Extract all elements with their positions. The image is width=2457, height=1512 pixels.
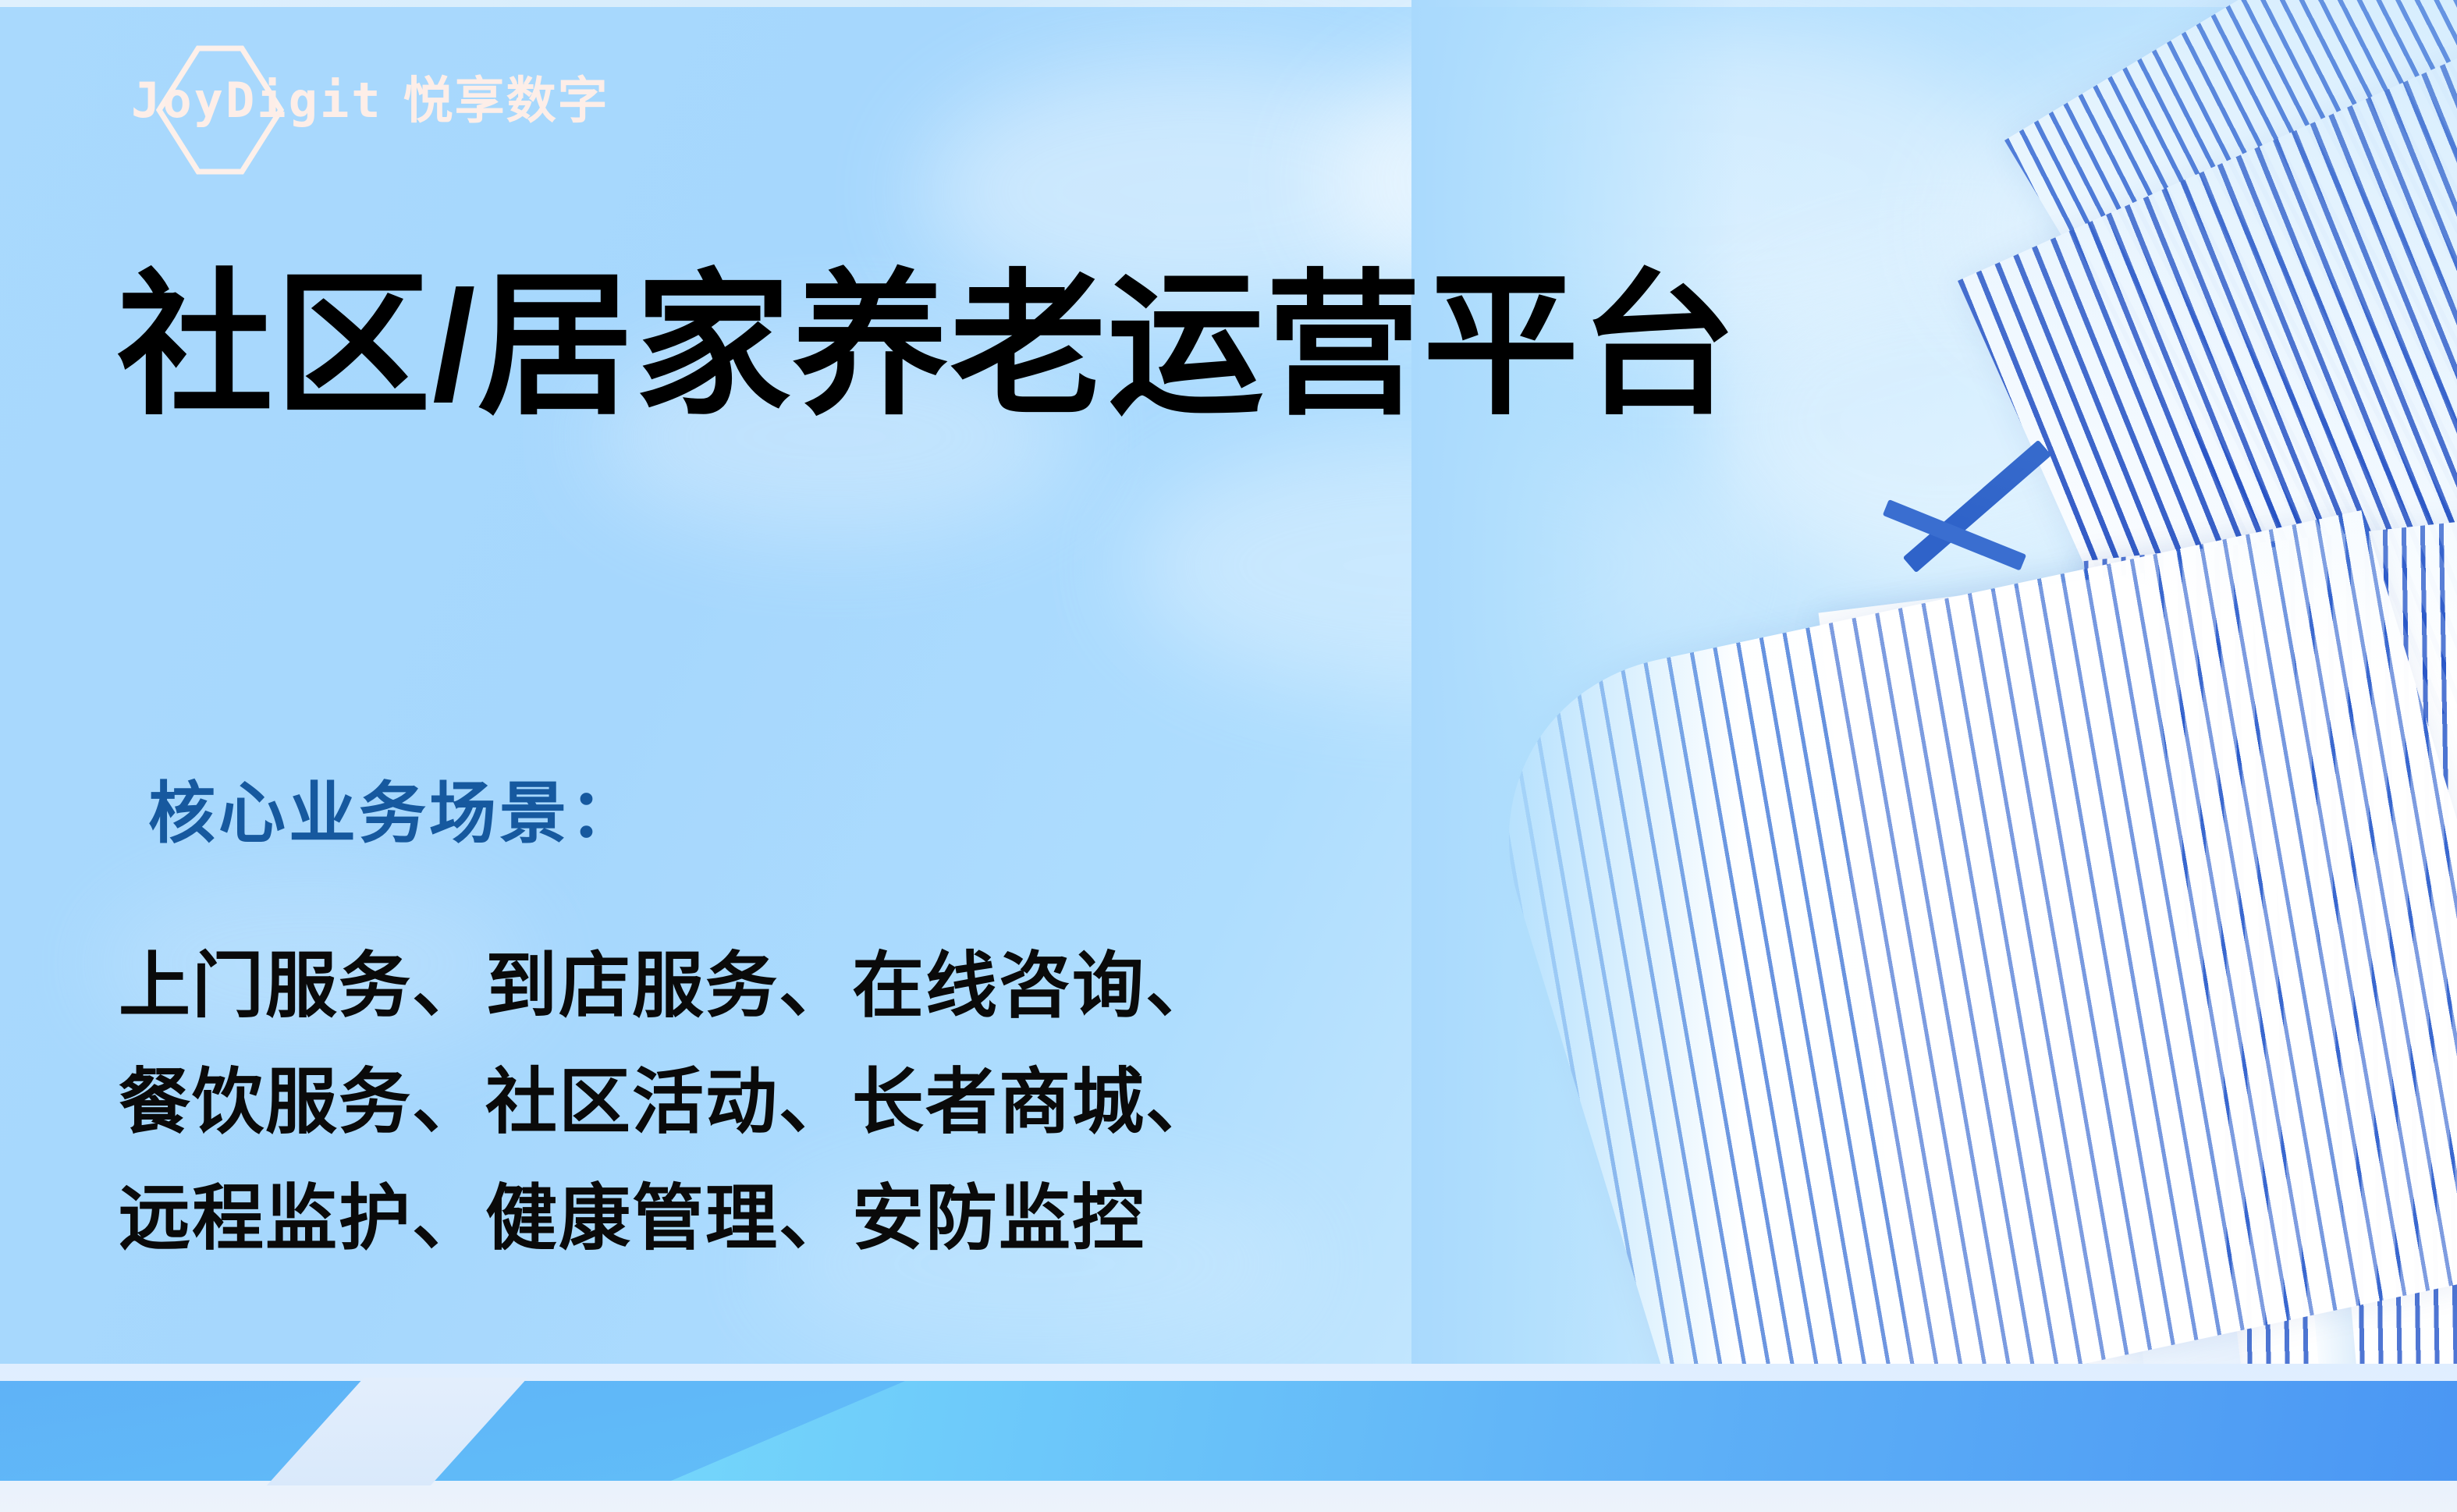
brand-logo[interactable]: JoyDigit 悦享数字 xyxy=(131,67,609,134)
skyscraper-photo xyxy=(1411,0,2457,1373)
footer-decoration xyxy=(0,1364,2457,1512)
logo-mark: JoyDigit xyxy=(131,76,383,125)
page-title: 社区/居家养老运营平台 xyxy=(117,262,1738,431)
section-heading: 核心业务场景： xyxy=(148,780,640,847)
logo-chinese-text: 悦享数字 xyxy=(403,76,609,126)
footer-band-right xyxy=(671,1381,2457,1481)
logo-latin-text: JoyDigit xyxy=(131,76,383,125)
scenario-line: 上门服务、到店服务、在线咨询、 xyxy=(119,928,1219,1045)
scenario-line: 餐饮服务、社区活动、长者商城、 xyxy=(119,1045,1219,1161)
scenario-list: 上门服务、到店服务、在线咨询、 餐饮服务、社区活动、长者商城、 远程监护、健康管… xyxy=(119,928,1219,1277)
roof-antenna-secondary-icon xyxy=(1883,499,2026,571)
tower-near-curved-face xyxy=(1458,510,2457,1373)
scenario-line: 远程监护、健康管理、安防监控 xyxy=(119,1161,1219,1277)
slide-canvas: JoyDigit 悦享数字 社区/居家养老运营平台 核心业务场景： 上门服务、到… xyxy=(0,0,2457,1512)
